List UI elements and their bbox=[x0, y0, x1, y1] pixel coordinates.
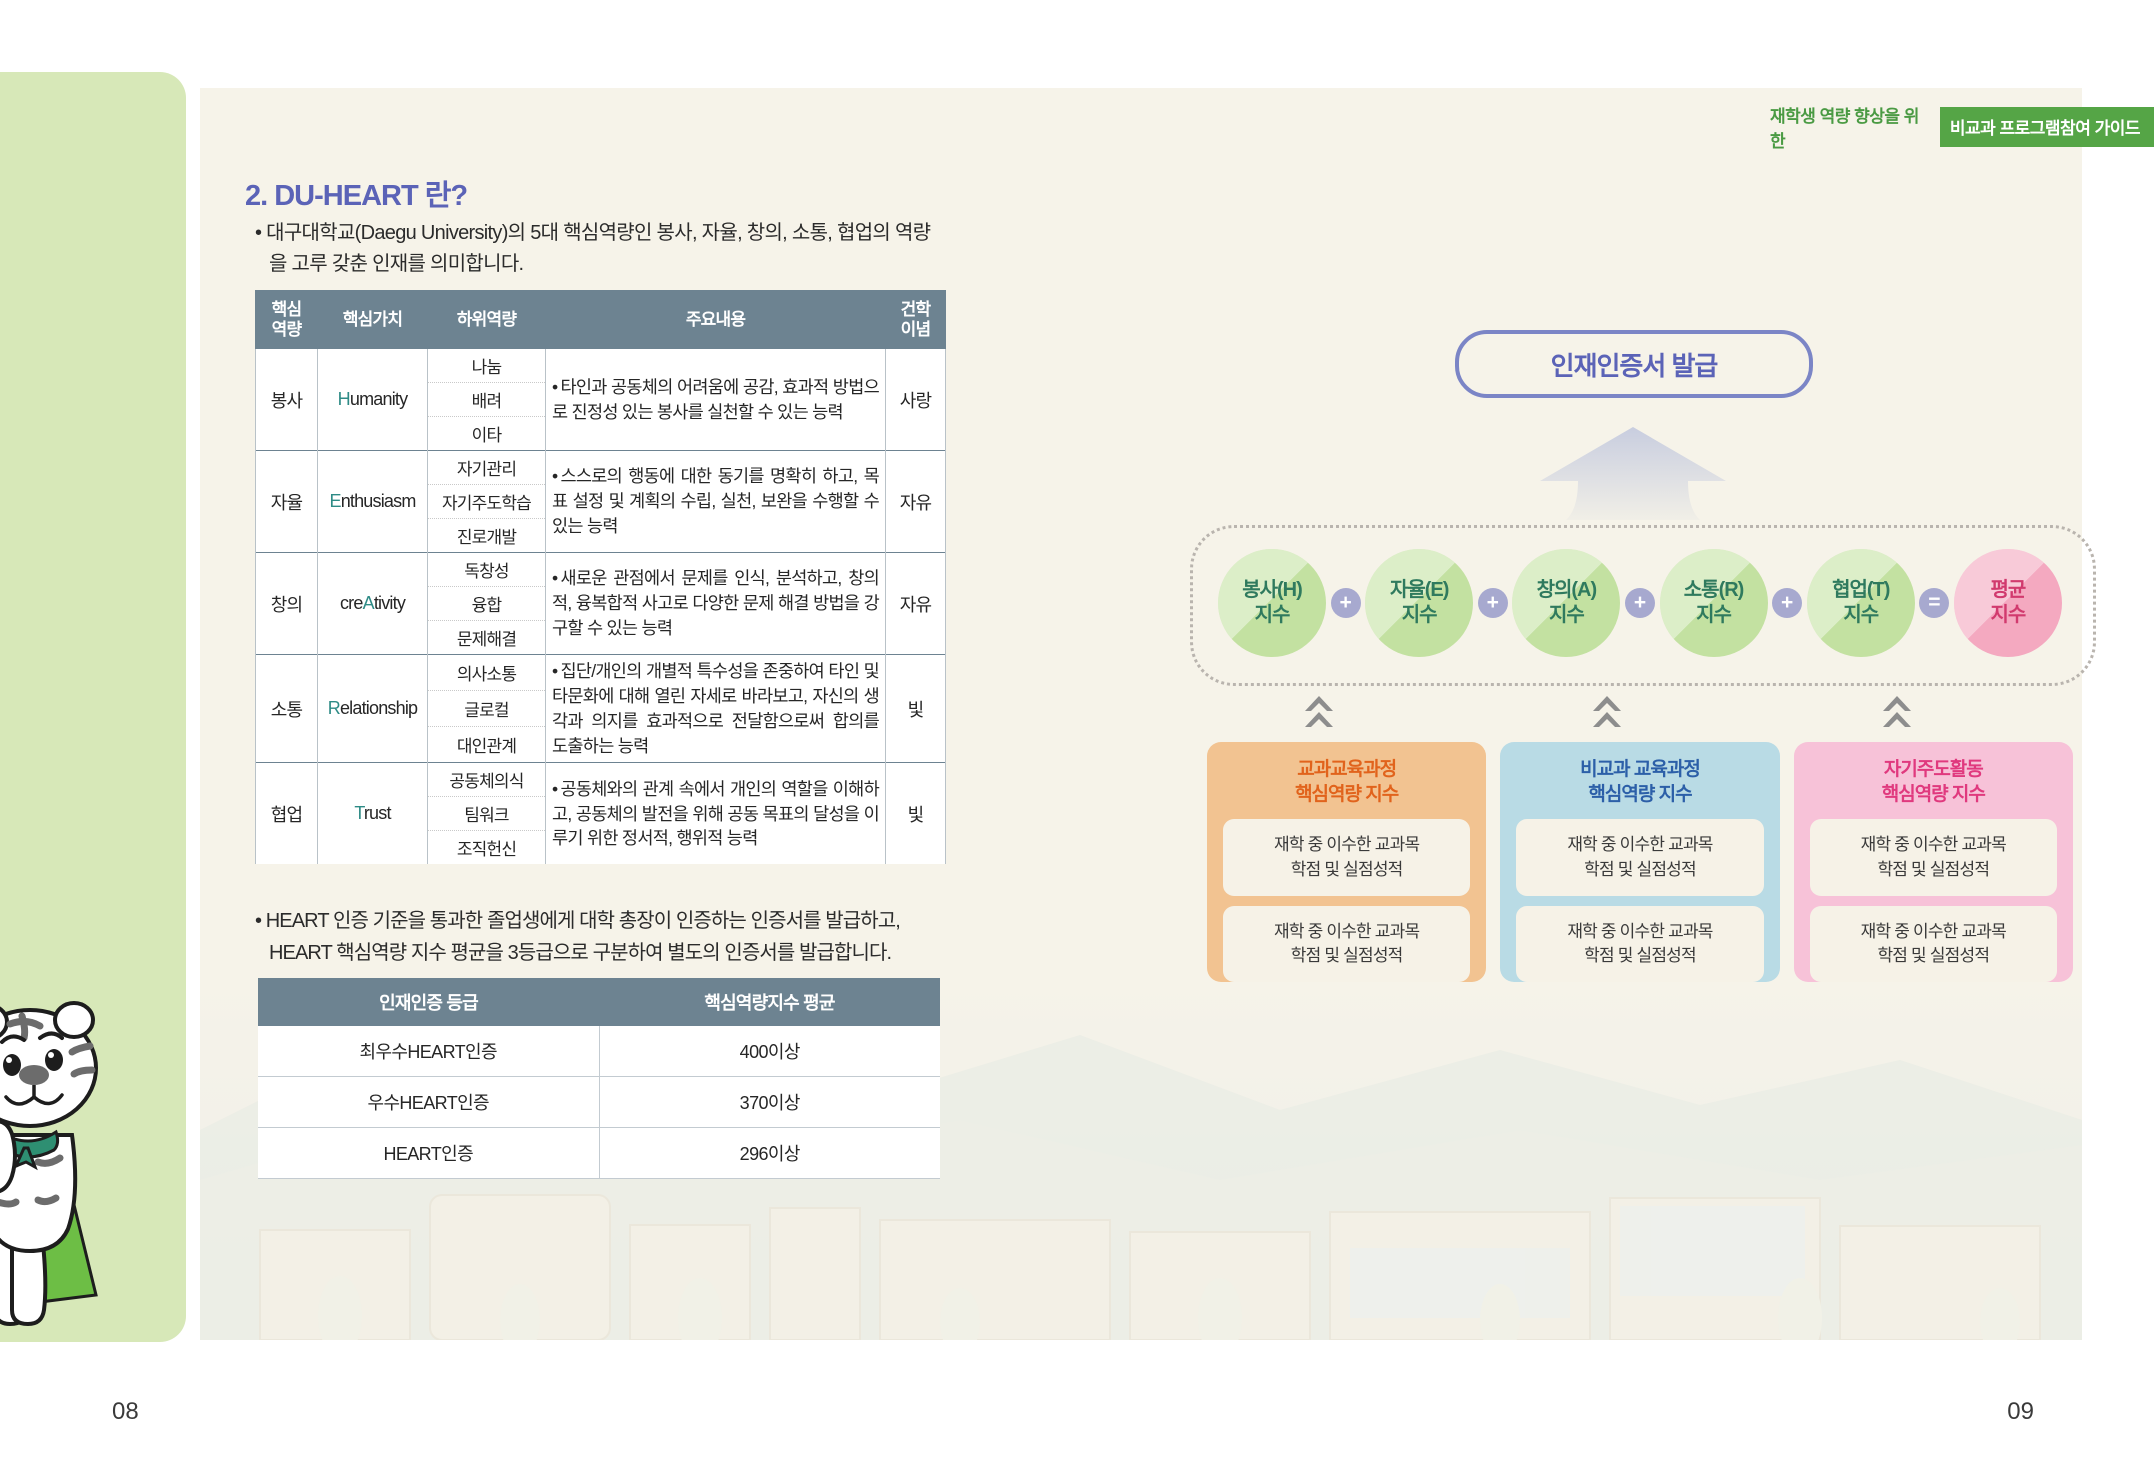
panel-item: 재학 중 이수한 교과목학점 및 실점성적 bbox=[1516, 819, 1763, 895]
cell-competency: 소통 bbox=[256, 655, 318, 763]
index-circle-label: 협업(T)지수 bbox=[1832, 578, 1889, 628]
page-title: 2. DU-HEART 란? bbox=[245, 172, 467, 214]
index-circle: 평균지수 bbox=[1954, 549, 2062, 657]
cell-grade-average: 400이상 bbox=[599, 1026, 940, 1077]
index-source-panel: 자기주도활동핵심역량 지수재학 중 이수한 교과목학점 및 실점성적재학 중 이… bbox=[1794, 742, 2073, 982]
cell-competency: 창의 bbox=[256, 553, 318, 655]
cell-sub-competency: 공동체의식 bbox=[428, 763, 546, 797]
grade-col-header-average: 핵심역량지수 평균 bbox=[599, 978, 940, 1026]
cell-sub-competency: 대인관계 bbox=[428, 727, 546, 763]
header-banner: 재학생 역량 향상을 위한 비교과 프로그램참여 가이드 bbox=[1770, 112, 2154, 142]
index-circle: 자율(E)지수 bbox=[1365, 549, 1473, 657]
certification-note: • HEART 인증 기준을 통과한 졸업생에게 대학 총장이 인증하는 인증서… bbox=[255, 905, 955, 969]
index-circle-label: 자율(E)지수 bbox=[1390, 578, 1448, 628]
cell-founding-ideal: 빛 bbox=[886, 763, 946, 865]
plus-icon: + bbox=[1625, 588, 1655, 618]
competency-table-header-row: 핵심 역량 핵심가치 하위역량 주요내용 건학 이념 bbox=[256, 291, 946, 349]
index-circle-label: 평균지수 bbox=[1991, 578, 2026, 628]
brochure-spread: 재학생 역량 향상을 위한 비교과 프로그램참여 가이드 2. DU-HEART… bbox=[0, 0, 2154, 1474]
banner-prefix: 재학생 역량 향상을 위한 bbox=[1770, 102, 1940, 152]
table-row: 협업Trust공동체의식•공동체와의 관계 속에서 개인의 역할을 이해하고, … bbox=[256, 763, 946, 797]
cell-core-value: Enthusiasm bbox=[318, 451, 428, 553]
plus-icon: + bbox=[1772, 588, 1802, 618]
table-row: 봉사Humanity나눔•타인과 공동체의 어려움에 공감, 효과적 방법으로 … bbox=[256, 349, 946, 383]
chevron-row bbox=[1190, 690, 2090, 745]
table-row: 소통Relationship의사소통•집단/개인의 개별적 특수성을 존중하여 … bbox=[256, 655, 946, 691]
panel-title: 교과교육과정핵심역량 지수 bbox=[1223, 758, 1470, 807]
indices-row: 봉사(H)지수+자율(E)지수+창의(A)지수+소통(R)지수+협업(T)지수=… bbox=[1190, 525, 2090, 680]
panel-item: 재학 중 이수한 교과목학점 및 실점성적 bbox=[1810, 819, 2057, 895]
col-header-founding-ideal: 건학 이념 bbox=[886, 291, 946, 349]
cell-core-value: creAtivity bbox=[318, 553, 428, 655]
panel-item: 재학 중 이수한 교과목학점 및 실점성적 bbox=[1810, 906, 2057, 982]
cell-grade-average: 370이상 bbox=[599, 1077, 940, 1128]
cell-sub-competency: 융합 bbox=[428, 587, 546, 621]
cell-competency: 봉사 bbox=[256, 349, 318, 451]
panel-title: 자기주도활동핵심역량 지수 bbox=[1810, 758, 2057, 807]
index-source-panel: 비교과 교육과정핵심역량 지수재학 중 이수한 교과목학점 및 실점성적재학 중… bbox=[1500, 742, 1779, 982]
index-circle-label: 소통(R)지수 bbox=[1684, 578, 1744, 628]
intro-text: • 대구대학교(Daegu University)의 5대 핵심역량인 봉사, … bbox=[255, 218, 945, 280]
double-chevron-up-icon bbox=[1590, 692, 1624, 732]
index-circle: 창의(A)지수 bbox=[1512, 549, 1620, 657]
cell-sub-competency: 팀워크 bbox=[428, 797, 546, 831]
cell-main-content: •집단/개인의 개별적 특수성을 존중하여 타인 및 타문화에 대해 열린 자세… bbox=[546, 655, 886, 763]
col-header-sub-competency: 하위역량 bbox=[428, 291, 546, 349]
cell-sub-competency: 글로컬 bbox=[428, 691, 546, 727]
cell-competency: 협업 bbox=[256, 763, 318, 865]
cell-founding-ideal: 빛 bbox=[886, 655, 946, 763]
double-chevron-up-icon bbox=[1880, 692, 1914, 732]
cell-sub-competency: 의사소통 bbox=[428, 655, 546, 691]
panel-title: 비교과 교육과정핵심역량 지수 bbox=[1516, 758, 1763, 807]
cell-main-content: •스스로의 행동에 대한 동기를 명확히 하고, 목표 설정 및 계획의 수립,… bbox=[546, 451, 886, 553]
cell-sub-competency: 독창성 bbox=[428, 553, 546, 587]
cell-main-content: •새로운 관점에서 문제를 인식, 분석하고, 창의적, 융복합적 사고로 다양… bbox=[546, 553, 886, 655]
cell-founding-ideal: 자유 bbox=[886, 451, 946, 553]
grade-table: 인재인증 등급 핵심역량지수 평균 최우수HEART인증400이상우수HEART… bbox=[258, 978, 940, 1179]
tiger-mascot bbox=[0, 72, 186, 1342]
cell-sub-competency: 조직헌신 bbox=[428, 831, 546, 865]
cell-sub-competency: 진로개발 bbox=[428, 519, 546, 553]
competency-table: 핵심 역량 핵심가치 하위역량 주요내용 건학 이념 봉사Humanity나눔•… bbox=[255, 290, 946, 864]
cell-grade-level: 최우수HEART인증 bbox=[258, 1026, 599, 1077]
cell-founding-ideal: 사랑 bbox=[886, 349, 946, 451]
index-circle: 협업(T)지수 bbox=[1807, 549, 1915, 657]
panel-item: 재학 중 이수한 교과목학점 및 실점성적 bbox=[1223, 906, 1470, 982]
left-green-panel bbox=[0, 72, 186, 1342]
index-circle: 소통(R)지수 bbox=[1660, 549, 1768, 657]
cell-sub-competency: 나눔 bbox=[428, 349, 546, 383]
double-chevron-up-icon bbox=[1302, 692, 1336, 732]
table-row: 창의creAtivity독창성•새로운 관점에서 문제를 인식, 분석하고, 창… bbox=[256, 553, 946, 587]
index-circle-label: 봉사(H)지수 bbox=[1242, 578, 1302, 628]
page-number-left: 08 bbox=[112, 1398, 139, 1426]
cell-core-value: Trust bbox=[318, 763, 428, 865]
cell-founding-ideal: 자유 bbox=[886, 553, 946, 655]
table-row: 자율Enthusiasm자기관리•스스로의 행동에 대한 동기를 명확히 하고,… bbox=[256, 451, 946, 485]
cell-grade-level: HEART인증 bbox=[258, 1128, 599, 1179]
plus-icon: + bbox=[1331, 588, 1361, 618]
cell-sub-competency: 자기주도학습 bbox=[428, 485, 546, 519]
cell-sub-competency: 문제해결 bbox=[428, 621, 546, 655]
table-row: 우수HEART인증370이상 bbox=[258, 1077, 940, 1128]
certification-note-text: • HEART 인증 기준을 통과한 졸업생에게 대학 총장이 인증하는 인증서… bbox=[255, 905, 955, 969]
panel-item: 재학 중 이수한 교과목학점 및 실점성적 bbox=[1516, 906, 1763, 982]
cell-sub-competency: 배려 bbox=[428, 383, 546, 417]
cell-grade-average: 296이상 bbox=[599, 1128, 940, 1179]
cell-core-value: Relationship bbox=[318, 655, 428, 763]
panel-item: 재학 중 이수한 교과목학점 및 실점성적 bbox=[1223, 819, 1470, 895]
table-row: 최우수HEART인증400이상 bbox=[258, 1026, 940, 1077]
equals-icon: = bbox=[1919, 588, 1949, 618]
grade-col-header-level: 인재인증 등급 bbox=[258, 978, 599, 1026]
banner-tag: 비교과 프로그램참여 가이드 bbox=[1940, 107, 2154, 147]
certificate-issue-label: 인재인증서 발급 bbox=[1551, 346, 1718, 383]
cell-sub-competency: 자기관리 bbox=[428, 451, 546, 485]
plus-icon: + bbox=[1478, 588, 1508, 618]
col-header-main-content: 주요내용 bbox=[546, 291, 886, 349]
cell-sub-competency: 이타 bbox=[428, 417, 546, 451]
index-circle-label: 창의(A)지수 bbox=[1537, 578, 1597, 628]
grade-table-header-row: 인재인증 등급 핵심역량지수 평균 bbox=[258, 978, 940, 1026]
index-circle: 봉사(H)지수 bbox=[1218, 549, 1326, 657]
up-arrow-icon bbox=[1528, 425, 1738, 520]
table-row: HEART인증296이상 bbox=[258, 1128, 940, 1179]
col-header-core-value: 핵심가치 bbox=[318, 291, 428, 349]
cell-core-value: Humanity bbox=[318, 349, 428, 451]
intro-paragraph: • 대구대학교(Daegu University)의 5대 핵심역량인 봉사, … bbox=[255, 218, 945, 280]
page-number-right: 09 bbox=[2007, 1398, 2034, 1426]
cell-competency: 자율 bbox=[256, 451, 318, 553]
col-header-competency: 핵심 역량 bbox=[256, 291, 318, 349]
cell-main-content: •공동체와의 관계 속에서 개인의 역할을 이해하고, 공동체의 발전을 위해 … bbox=[546, 763, 886, 865]
cell-grade-level: 우수HEART인증 bbox=[258, 1077, 599, 1128]
certificate-issue-box: 인재인증서 발급 bbox=[1455, 330, 1813, 398]
index-source-panels: 교과교육과정핵심역량 지수재학 중 이수한 교과목학점 및 실점성적재학 중 이… bbox=[1207, 742, 2073, 982]
cell-main-content: •타인과 공동체의 어려움에 공감, 효과적 방법으로 진정성 있는 봉사를 실… bbox=[546, 349, 886, 451]
index-source-panel: 교과교육과정핵심역량 지수재학 중 이수한 교과목학점 및 실점성적재학 중 이… bbox=[1207, 742, 1486, 982]
